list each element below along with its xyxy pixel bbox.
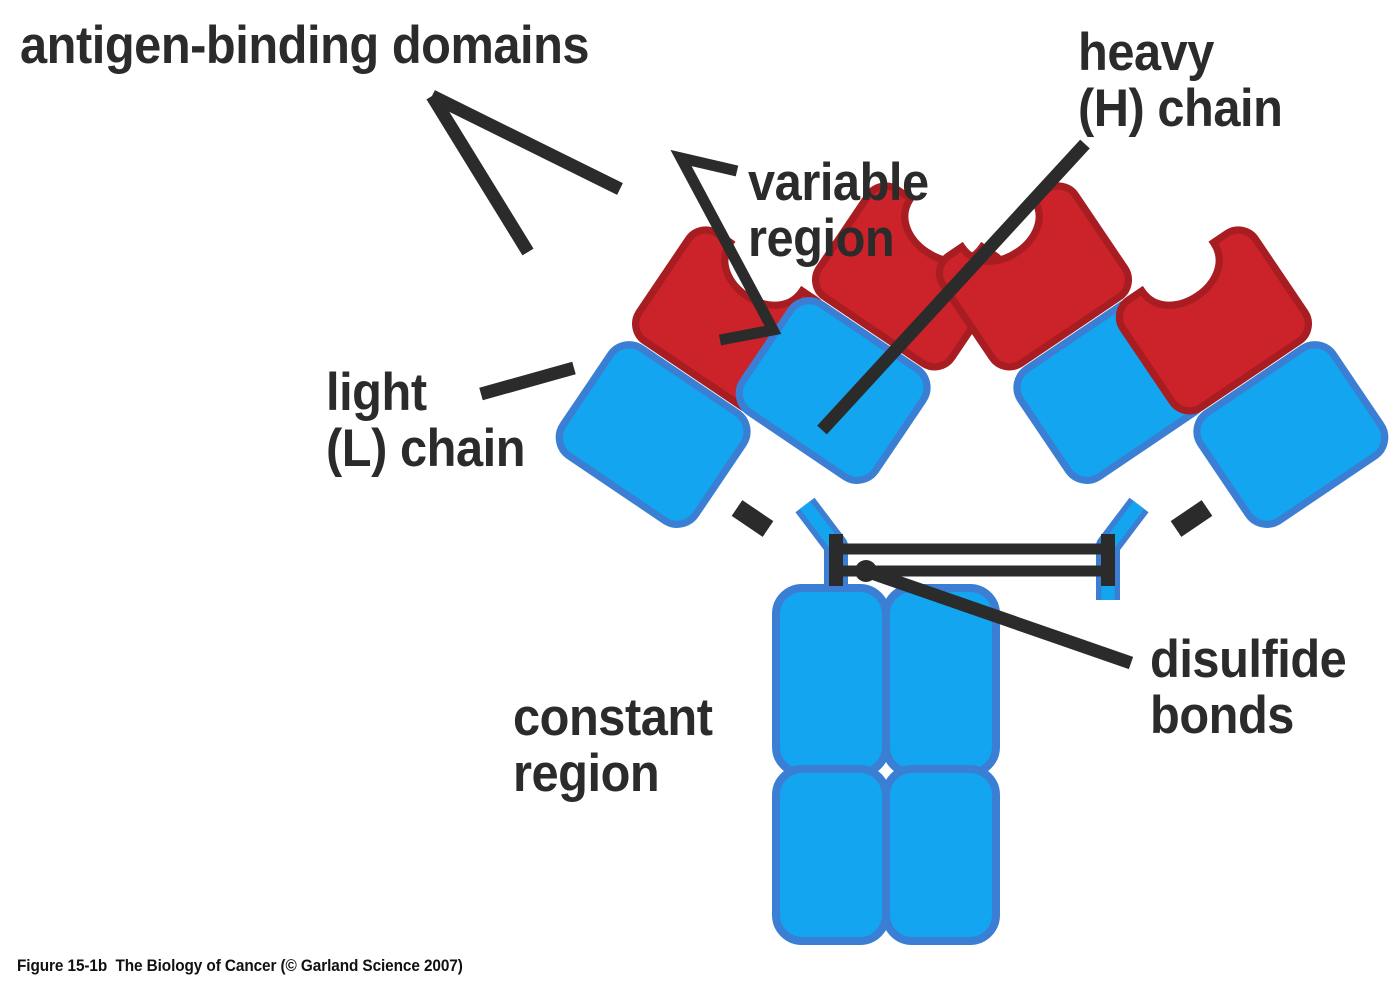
antibody-diagram [0, 0, 1400, 989]
label-heavy-chain: heavy (H) chain [1078, 25, 1282, 137]
ch3-domain-right [886, 769, 996, 941]
label-light-chain: light (L) chain [326, 365, 525, 477]
label-disulfide-bonds: disulfide bonds [1150, 632, 1346, 744]
ch2-domain-left [776, 588, 886, 773]
antibody-figure: antigen-binding domains variable region … [0, 0, 1400, 989]
ch3-domain-left [776, 769, 886, 941]
figure-caption: Figure 15-1b The Biology of Cancer (© Ga… [17, 957, 463, 976]
label-variable-region: variable region [748, 155, 929, 267]
constant-region-stem [776, 588, 996, 941]
right-arm-light-chain [1111, 222, 1393, 533]
label-antigen-binding-domains: antigen-binding domains [20, 18, 589, 74]
leader-antigen-binding-domains [432, 96, 620, 252]
disulfide-bond-right-arm [1176, 508, 1207, 529]
disulfide-bond-left-arm [737, 508, 768, 529]
label-constant-region: constant region [513, 690, 713, 802]
